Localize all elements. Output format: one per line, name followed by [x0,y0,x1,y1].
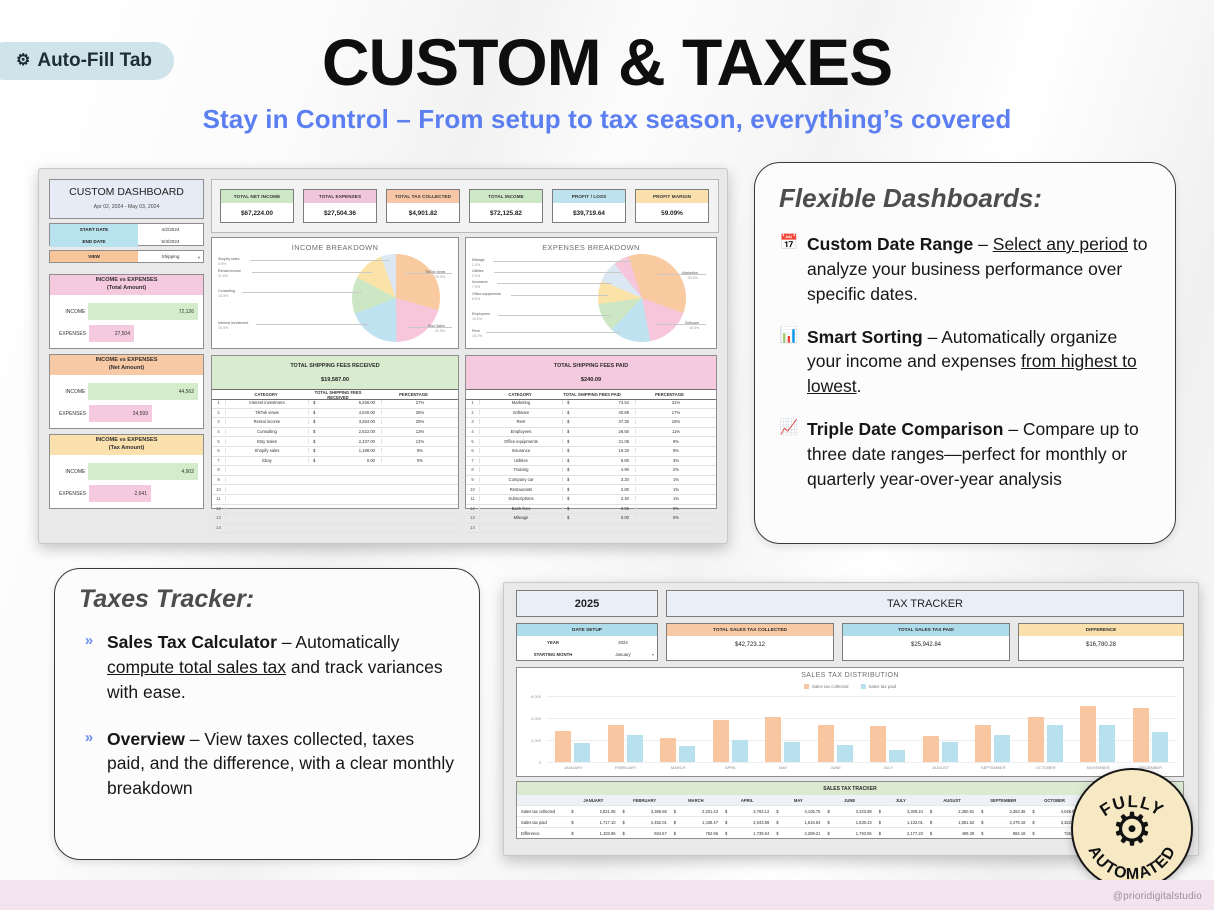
row-value: $1,103.96 [568,831,619,836]
x-axis-tick: FEBRUARY [600,765,653,770]
bar-collected [660,738,676,762]
row-currency: $ [308,458,327,463]
expenses-breakdown-title: EXPENSES BREAKDOWN [466,243,716,252]
tax-difference-value: $16,780.28 [1019,636,1183,654]
row-percentage: 17% [635,410,716,415]
tax-tracker-title: TAX TRACKER [887,598,963,610]
kpi-card: PROFIT MARGIN 59.09% [635,189,709,223]
bullet-emphasis: Select any period [993,234,1128,254]
row-percentage: 1% [635,496,716,501]
month-header: JULY [876,798,927,803]
bar-collected [555,731,571,762]
row-percentage: 9% [635,439,716,444]
row-amount: 74.54 [581,400,635,405]
row-value: $2,821.06 [568,809,619,814]
bar-paid [732,740,748,762]
kpi-label: TOTAL EXPENSES [304,190,376,203]
bullet-custom-date-range: 📅 Custom Date Range – Select any period … [779,232,1151,307]
chevron-down-icon[interactable]: ▾ [652,652,654,657]
bar-paid [574,743,590,762]
row-currency: $ [562,410,581,415]
x-axis-tick: JANUARY [547,765,600,770]
bullet-title: Overview [107,729,185,749]
row-value: $1,793.55 [824,831,875,836]
row-percentage: 2% [635,467,716,472]
row-category: Ebay [226,458,308,463]
row-category: Etsy Sales [226,439,308,444]
row-currency: $ [562,439,581,444]
row-number: 5 [212,439,226,444]
row-currency: $ [308,410,327,415]
row-amount: 40.69 [581,410,635,415]
bar-paid [889,750,905,762]
date-setup-panel[interactable]: DATE SETUP YEAR 2024 STARTING MONTH Janu… [516,623,658,661]
row-value: $2,289.21 [773,831,824,836]
row-currency: $ [308,448,327,453]
row-amount: 5,256.00 [327,400,381,405]
kpi-value: 59.09% [636,203,708,224]
row-amount: 6.80 [581,458,635,463]
chart-y-axis: 02,0004,0006,000 [517,690,543,768]
row-category: TikTok views [226,410,308,415]
row-amount: 37.30 [581,419,635,424]
view-value[interactable]: Shipping [138,251,203,262]
row-amount: 26.50 [581,429,635,434]
row-value: $1,530.43 [824,820,875,825]
row-percentage: 25% [381,410,458,415]
row-number: 10 [212,487,226,492]
bar-collected [1133,708,1149,762]
legend-paid: Sales tax paid [861,684,897,689]
x-axis-tick: OCTOBER [1020,765,1073,770]
month-header: MARCH [671,798,722,803]
bar-paid [679,746,695,762]
tax-collected-value: $42,723.12 [667,636,833,654]
row-category: Interest investment [226,400,308,405]
row-category: Utilities [480,458,562,463]
leader-line [498,315,611,316]
bar-paid [784,742,800,762]
leader-line [250,260,390,261]
y-axis-tick: 0 [517,760,541,765]
row-category: Rental income [226,419,308,424]
sales-tax-distribution-chart: SALES TAX DISTRIBUTION Sales tax collect… [516,667,1184,777]
row-value: $1,816.54 [773,820,824,825]
row-category: Bank fees [480,506,562,511]
row-value: $2,479.18 [978,820,1029,825]
kpi-value: $67,224.00 [221,203,293,224]
flexible-dashboards-heading: Flexible Dashboards: [779,183,1151,214]
bar-chart-icon: 📊 [779,325,799,400]
kpi-value: $27,504.36 [304,203,376,224]
row-percentage: 8% [381,448,458,453]
income-vs-expenses-total: INCOME vs EXPENSES(Total Amount) INCOME … [49,274,204,349]
kpi-label: PROFIT / LOSS [553,190,625,203]
tax-year-block[interactable]: 2025 [516,590,658,617]
bullet-dash: – [1008,419,1018,439]
bullet-dash: – [928,327,938,347]
row-number: 6 [466,448,480,453]
bar-collected [870,726,886,762]
taxes-tracker-panel: Taxes Tracker: » Sales Tax Calculator – … [54,568,480,860]
bullet-dash: – [978,234,988,254]
leader-line [494,272,621,273]
col-category: CATEGORY [479,392,561,397]
ive-total-expenses-label: EXPENSES [56,331,89,337]
row-value: $1,851.52 [927,820,978,825]
leader-line [408,327,452,328]
row-number: 4 [212,429,226,434]
svg-text:AUTOMATED: AUTOMATED [1085,843,1180,883]
ive-net-caption: INCOME vs EXPENSES(Net Amount) [50,355,203,375]
row-currency: $ [308,439,327,444]
pie-label-interest-investment: Interest investment19.5% [218,321,248,331]
row-label: Sales tax collected [517,809,568,814]
income-breakdown-pie [352,254,440,342]
view-selector-block[interactable]: VIEW Shipping ▾ [49,250,204,263]
row-label: Sales tax paid [517,820,568,825]
row-number: 6 [212,448,226,453]
ive-net-expenses-label: EXPENSES [56,411,89,417]
row-category: Insurance [480,448,562,453]
shipping-received-total: $19,587.00 [212,374,458,386]
month-header: APRIL [722,798,773,803]
kpi-label: TOTAL INCOME [470,190,542,203]
row-value: $2,043.58 [722,820,773,825]
leader-line [656,324,706,325]
row-amount: 1,188.00 [327,448,381,453]
row-value: $2,201.43 [671,809,722,814]
x-axis-tick: SEPTEMBER [967,765,1020,770]
fully-automated-badge: FULLY AUTOMATED ⚙ [1071,768,1193,890]
chart-plot-area [547,696,1177,762]
gridline [547,696,1177,697]
tt-year-label: YEAR [517,640,589,645]
row-amount: 19.33 [581,448,635,453]
row-number: 1 [212,400,226,405]
table-row: 14 [212,523,458,534]
end-date-value[interactable]: 5/3/2024 [138,236,203,248]
row-percentage: 1% [635,487,716,492]
kpi-label: TOTAL TAX COLLECTED [387,190,459,203]
bullet-overview: » Overview – View taxes collected, taxes… [79,727,455,802]
income-vs-expenses-net: INCOME vs EXPENSES(Net Amount) INCOME 44… [49,354,204,429]
pie-label-rental-income: Rental income11.6% [218,269,241,279]
page-title: CUSTOM & TAXES [0,24,1214,100]
row-category: Training [480,467,562,472]
kpi-card: TOTAL TAX COLLECTED $4,901.82 [386,189,460,223]
end-date-label: END DATE [50,236,138,248]
ive-tax-expenses-bar: 2,641 [89,485,151,502]
bar-paid [1047,725,1063,762]
row-number: 13 [212,515,226,520]
tax-paid-label: TOTAL SALES TAX PAID [843,624,1009,636]
row-percentage: 0% [635,506,716,511]
row-amount: 4.90 [581,467,635,472]
pie-label-etsy-sales: Etsy Sales20.3% [428,324,445,334]
ive-total-income-bar: 72,126 [88,303,198,320]
kpi-value: $39,719.64 [553,203,625,224]
col-percentage: PERCENTAGE [623,392,716,397]
leader-line [486,332,620,333]
chevron-down-icon[interactable]: ▾ [198,255,200,261]
tt-year-value[interactable]: 2024 [589,640,657,645]
row-category: Rent [480,419,562,424]
pie-label-mileage: Mileage2.4% [472,258,485,268]
row-category: Subscriptions [480,496,562,501]
pie-label-consulting: Consulting13.5% [218,289,235,299]
view-label: VIEW [50,251,138,262]
row-number: 7 [212,458,226,463]
leader-line [256,324,369,325]
bar-collected [713,720,729,762]
dashboard-title-block: CUSTOM DASHBOARD Apr 02, 2024 - May 03, … [49,179,204,219]
row-category: Restaurants [480,487,562,492]
leader-line [658,274,706,275]
legend-swatch-paid [861,684,866,689]
tax-year-value: 2025 [575,598,599,610]
dashboard-date-range: Apr 02, 2024 - May 03, 2024 [50,204,203,210]
bar-paid [837,745,853,762]
row-value: $499.29 [927,831,978,836]
x-axis-tick: JULY [862,765,915,770]
kpi-card: TOTAL EXPENSES $27,504.36 [303,189,377,223]
taxes-tracker-heading: Taxes Tracker: [79,585,455,614]
ive-total-caption: INCOME vs EXPENSES(Total Amount) [50,275,203,295]
ive-tax-income-bar: 4,902 [88,463,198,480]
row-currency: $ [308,419,327,424]
pie-label-marketing: Marketing30.5% [682,271,698,281]
row-value: $884.18 [978,831,1029,836]
row-number: 1 [466,400,480,405]
kpi-card: TOTAL NET INCOME $67,224.00 [220,189,294,223]
bar-paid [994,735,1010,762]
row-percentage: 3% [635,458,716,463]
row-number: 5 [466,439,480,444]
row-currency: $ [562,515,581,520]
double-chevron-icon: » [79,727,99,802]
tax-paid-value: $25,942.84 [843,636,1009,654]
ive-tax-income-label: INCOME [56,469,88,475]
row-percentage: 25% [381,419,458,424]
row-amount: 3.20 [581,477,635,482]
row-value: $762.96 [671,831,722,836]
row-percentage: 12% [381,439,458,444]
row-amount: 2,522.00 [327,429,381,434]
row-currency: $ [308,400,327,405]
tax-collected-card: TOTAL SALES TAX COLLECTED $42,723.12 [666,623,834,661]
row-value: $1,132.01 [876,820,927,825]
row-number: 14 [212,525,226,530]
row-number: 9 [212,477,226,482]
footer-band [0,880,1214,910]
row-label: Difference [517,831,568,836]
pie-label-utilities: Utilities2.9% [472,269,484,279]
dashboard-title: CUSTOM DASHBOARD [50,186,203,198]
ive-total-income-label: INCOME [56,309,88,315]
x-axis-tick: JUNE [810,765,863,770]
badge-curved-text: FULLY AUTOMATED [1073,770,1191,888]
x-axis-tick: AUGUST [915,765,968,770]
pie-label-office-equipments: Office equipments8.6% [472,292,501,302]
bullet-dash: – [190,729,200,749]
month-header: AUGUST [927,798,978,803]
pie-label-rent: Rent15.2% [472,329,482,339]
row-category: Mileage [480,515,562,520]
svg-text:FULLY: FULLY [1096,792,1167,820]
pie-label-insurance: Insurance7.9% [472,280,488,290]
tax-collected-label: TOTAL SALES TAX COLLECTED [667,624,833,636]
row-value: $934.67 [620,831,671,836]
bullet-triple-date-comparison: 📈 Triple Date Comparison – Compare up to… [779,417,1151,492]
row-number: 3 [212,419,226,424]
ive-net-income-bar: 44,562 [88,383,198,400]
row-number: 9 [466,477,480,482]
leader-line [493,261,631,262]
bullet-title: Triple Date Comparison [807,419,1003,439]
income-breakdown-chart: INCOME BREAKDOWN Shopify sales5.9% Renta… [211,237,459,349]
x-axis-tick: APRIL [705,765,758,770]
row-percentage: 0% [381,458,458,463]
shipping-received-title: TOTAL SHIPPING FEES RECEIVED [212,358,458,374]
row-currency: $ [562,400,581,405]
row-amount: 2,437.00 [327,439,381,444]
row-category: Company car [480,477,562,482]
leader-line [511,295,608,296]
row-value: $4,105.75 [773,809,824,814]
row-percentage: 13% [381,429,458,434]
legend-swatch-collected [804,684,809,689]
row-category: Employees [480,429,562,434]
start-date-value[interactable]: 4/2/2024 [138,224,203,236]
pie-label-employees: Employees10.5% [472,312,490,322]
row-value: $2,350.81 [927,809,978,814]
leader-line [252,272,372,273]
row-currency: $ [562,458,581,463]
trend-up-icon: 📈 [779,417,799,492]
shipping-paid-total: $240.09 [466,374,716,386]
row-currency: $ [308,429,327,434]
shipping-paid-title: TOTAL SHIPPING FEES PAID [466,358,716,374]
row-value: $2,177.23 [876,831,927,836]
tt-starting-month-value[interactable]: January [589,652,657,657]
bar-collected [923,736,939,762]
footer-handle: @prioridigitalstudio [1113,891,1202,902]
pie-label-tiktok-views: TikTok views29.5% [425,270,445,280]
bar-collected [818,725,834,762]
row-amount: 4,940.00 [327,410,381,415]
row-number: 12 [212,506,226,511]
tax-difference-label: DIFFERENCE [1019,624,1183,636]
row-amount: 0.00 [581,515,635,520]
bar-paid [1099,725,1115,763]
row-currency: $ [562,448,581,453]
kpi-label: TOTAL NET INCOME [221,190,293,203]
start-date-label: START DATE [50,224,138,236]
bar-collected [608,725,624,762]
row-currency: $ [562,506,581,511]
row-currency: $ [562,429,581,434]
row-number: 14 [466,525,480,530]
bullet-smart-sorting: 📊 Smart Sorting – Automatically organize… [779,325,1151,400]
bar-paid [1152,732,1168,762]
row-percentage: 16% [635,419,716,424]
bar-collected [1080,706,1096,762]
row-percentage: 31% [635,400,716,405]
row-number: 3 [466,419,480,424]
col-amount: TOTAL SHIPPING FEES PAID [561,392,623,397]
row-amount: 2.80 [581,487,635,492]
bar-paid [627,735,643,762]
ive-tax-expenses-label: EXPENSES [56,491,89,497]
month-header: FEBRUARY [620,798,671,803]
row-value: $1,438.47 [671,820,722,825]
month-header: SEPTEMBER [978,798,1029,803]
bullet-dash: – [282,632,292,652]
row-category: Consulting [226,429,308,434]
table-row: 14 [466,523,716,534]
date-setup-block[interactable]: START DATE 4/2/2024 END DATE 5/3/2024 [49,223,204,246]
x-axis-tick: MAY [757,765,810,770]
income-vs-expenses-tax: INCOME vs EXPENSES(Tax Amount) INCOME 4,… [49,434,204,509]
row-number: 11 [212,496,226,501]
leader-line [242,292,362,293]
date-setup-label: DATE SETUP [517,624,657,636]
row-currency: $ [562,467,581,472]
row-number: 8 [466,467,480,472]
row-currency: $ [562,487,581,492]
row-value: $3,363.36 [978,809,1029,814]
col-percentage: PERCENTAGE [369,392,458,397]
page-subtitle: Stay in Control – From setup to tax seas… [0,104,1214,135]
bullet-body-pre: Automatically [295,632,399,652]
tax-difference-card: DIFFERENCE $16,780.28 [1018,623,1184,661]
bullet-emphasis: compute total sales tax [107,657,286,677]
row-value: $3,323.98 [824,809,875,814]
tt-starting-month-label: STARTING MONTH [517,652,589,657]
bar-collected [765,717,781,762]
pie-label-software: Software16.5% [685,321,699,331]
row-amount: 3,264.00 [327,419,381,424]
kpi-label: PROFIT MARGIN [636,190,708,203]
row-number: 13 [466,515,480,520]
col-category: CATEGORY [225,392,307,397]
bullet-sales-tax-calculator: » Sales Tax Calculator – Automatically c… [79,630,455,705]
row-percentage: 8% [635,448,716,453]
row-amount: 0.00 [327,458,381,463]
kpi-value: $4,901.82 [387,203,459,224]
tax-tracker-title-block: TAX TRACKER [666,590,1184,617]
income-breakdown-title: INCOME BREAKDOWN [212,243,458,252]
bullet-body: . [857,376,862,396]
tax-paid-card: TOTAL SALES TAX PAID $25,942.84 [842,623,1010,661]
bullet-title: Smart Sorting [807,327,923,347]
row-number: 12 [466,506,480,511]
expenses-breakdown-pie [598,254,686,342]
bullet-title: Custom Date Range [807,234,973,254]
month-header: JANUARY [568,798,619,803]
pie-label-shopify-sales: Shopify sales5.9% [218,257,239,267]
row-percentage: 27% [381,400,458,405]
sales-tax-distribution-title: SALES TAX DISTRIBUTION [517,672,1183,679]
gridline [547,762,1177,763]
row-percentage: 1% [635,477,716,482]
row-currency: $ [562,477,581,482]
row-value: $3,783.12 [722,809,773,814]
y-axis-tick: 4,000 [517,716,541,721]
row-category: Marketing [480,400,562,405]
flexible-dashboards-panel: Flexible Dashboards: 📅 Custom Date Range… [754,162,1176,544]
